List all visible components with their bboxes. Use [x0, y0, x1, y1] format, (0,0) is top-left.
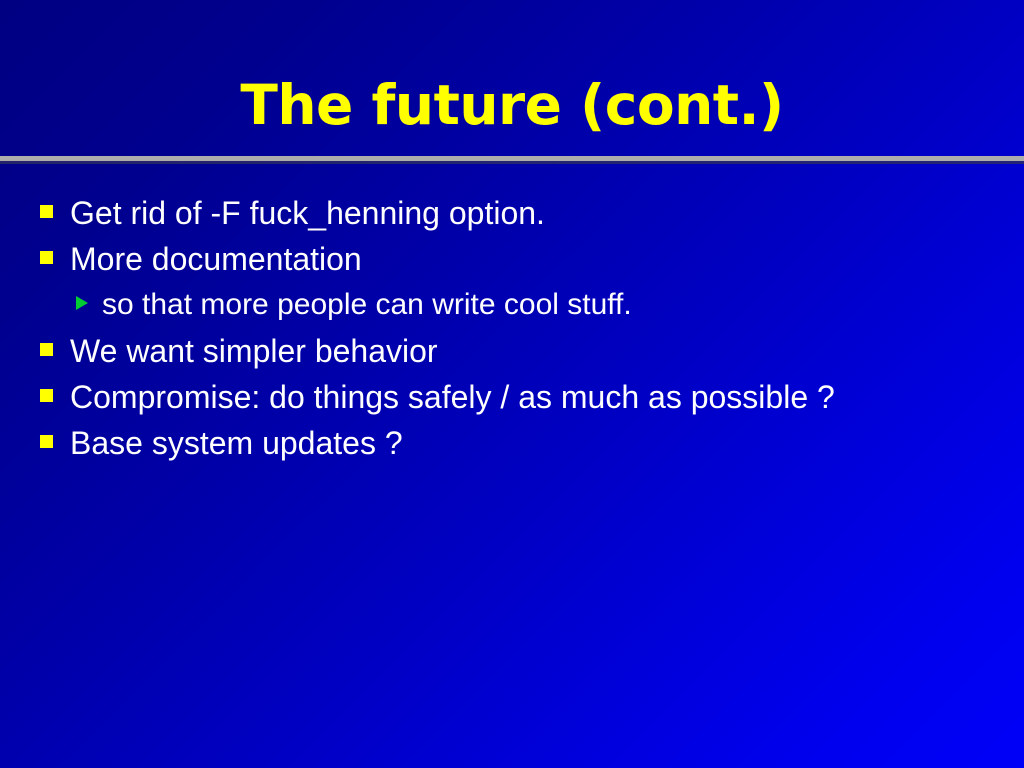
bullet-text: Compromise: do things safely / as much a… [70, 377, 835, 417]
square-bullet-icon [40, 251, 53, 264]
bullet-text: Get rid of -F fuck_henning option. [70, 193, 545, 233]
slide-title: The future (cont.) [0, 74, 1024, 136]
sub-bullet-text: so that more people can write cool stuff… [102, 285, 632, 325]
bullet-item: Base system updates ? [0, 423, 1024, 469]
divider-shadow-line [0, 161, 1024, 164]
bullet-item: We want simpler behavior [0, 331, 1024, 377]
bullet-item: More documentation [0, 239, 1024, 285]
square-bullet-icon [40, 389, 53, 402]
square-bullet-icon [40, 343, 53, 356]
bullet-text: Base system updates ? [70, 423, 403, 463]
bullet-text: More documentation [70, 239, 362, 279]
presentation-slide: The future (cont.) Get rid of -F fuck_he… [0, 0, 1024, 768]
sub-bullet-item: so that more people can write cool stuff… [0, 285, 1024, 331]
bullet-text: We want simpler behavior [70, 331, 438, 371]
bullet-item: Compromise: do things safely / as much a… [0, 377, 1024, 423]
square-bullet-icon [40, 205, 53, 218]
slide-title-area: The future (cont.) [0, 0, 1024, 157]
title-divider-rule [0, 156, 1024, 164]
bullet-item: Get rid of -F fuck_henning option. [0, 193, 1024, 239]
slide-body-bullet-list: Get rid of -F fuck_henning option. More … [0, 193, 1024, 469]
square-bullet-icon [40, 435, 53, 448]
triangle-bullet-icon [76, 296, 88, 310]
